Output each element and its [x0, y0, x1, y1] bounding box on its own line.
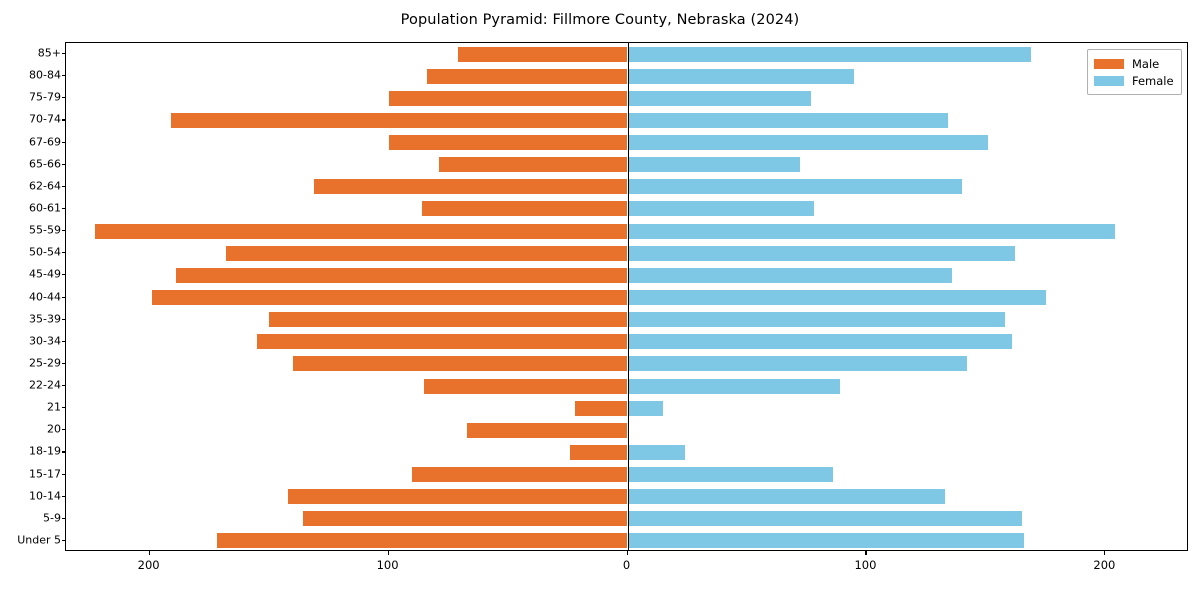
- x-axis-tick-label: 100: [854, 558, 876, 572]
- y-axis-tick-label: 30-34: [29, 335, 61, 346]
- bar-female-70-74: [628, 113, 948, 128]
- figure-canvas: Population Pyramid: Fillmore County, Neb…: [0, 0, 1200, 600]
- bar-male-21: [575, 401, 628, 416]
- y-axis-tick-mark: [62, 474, 66, 475]
- bar-female-67-69: [628, 135, 989, 150]
- bar-male-25-29: [293, 356, 628, 371]
- y-axis-tick-mark: [62, 252, 66, 253]
- y-axis-tick-label: 85+: [38, 48, 61, 59]
- y-axis-tick-mark: [62, 451, 66, 452]
- bar-female-85-: [628, 47, 1032, 62]
- bar-female-30-34: [628, 334, 1013, 349]
- bar-female-55-59: [628, 224, 1115, 239]
- y-axis-tick-label: 60-61: [29, 202, 61, 213]
- y-axis-tick-mark: [62, 164, 66, 165]
- y-axis-tick-mark: [62, 97, 66, 98]
- bar-female-25-29: [628, 356, 967, 371]
- bar-female-5-9: [628, 511, 1022, 526]
- bar-male-60-61: [422, 201, 627, 216]
- bar-male-40-44: [152, 290, 627, 305]
- x-axis-tick-mark: [388, 551, 389, 555]
- y-axis-tick-label: 67-69: [29, 136, 61, 147]
- y-axis-tick-mark: [62, 540, 66, 541]
- legend-swatch-female: [1094, 76, 1124, 86]
- y-axis-tick-mark: [62, 230, 66, 231]
- x-axis-tick-label: 0: [623, 558, 630, 572]
- x-axis-tick-label: 200: [1093, 558, 1115, 572]
- x-axis-tick-label: 200: [138, 558, 160, 572]
- bar-female-40-44: [628, 290, 1046, 305]
- legend-item-female[interactable]: Female: [1094, 72, 1174, 89]
- bar-female-80-84: [628, 69, 855, 84]
- bar-female-62-64: [628, 179, 963, 194]
- y-axis-tick-mark: [62, 142, 66, 143]
- y-axis-tick-label: 5-9: [43, 512, 61, 523]
- y-axis-tick-label: Under 5: [17, 534, 61, 545]
- y-axis-tick-mark: [62, 319, 66, 320]
- y-axis-tick-mark: [62, 75, 66, 76]
- y-axis-tick-mark: [62, 363, 66, 364]
- bar-female-50-54: [628, 246, 1015, 261]
- bar-male-50-54: [226, 246, 627, 261]
- bar-male-55-59: [95, 224, 628, 239]
- bar-male-70-74: [171, 113, 627, 128]
- bar-male-under-5: [217, 533, 628, 548]
- bar-female-15-17: [628, 467, 833, 482]
- y-axis-tick-label: 55-59: [29, 225, 61, 236]
- bar-female-60-61: [628, 201, 814, 216]
- bar-male-18-19: [570, 445, 627, 460]
- bar-female-65-66: [628, 157, 800, 172]
- bar-male-67-69: [389, 135, 628, 150]
- x-axis-tick-mark: [865, 551, 866, 555]
- bar-female-21: [628, 401, 664, 416]
- y-axis-tick-label: 10-14: [29, 490, 61, 501]
- y-axis-tick-mark: [62, 518, 66, 519]
- x-axis-tick-mark: [1104, 551, 1105, 555]
- y-axis-tick-mark: [62, 341, 66, 342]
- y-axis-tick-label: 45-49: [29, 269, 61, 280]
- y-axis-tick-mark: [62, 385, 66, 386]
- y-axis-tick-label: 22-24: [29, 380, 61, 391]
- y-axis-tick-label: 25-29: [29, 357, 61, 368]
- chart-legend[interactable]: MaleFemale: [1087, 49, 1182, 95]
- bar-male-65-66: [439, 157, 628, 172]
- y-axis-tick-label: 18-19: [29, 446, 61, 457]
- legend-label: Male: [1132, 57, 1159, 71]
- bar-female-45-49: [628, 268, 953, 283]
- bar-female-18-19: [628, 445, 685, 460]
- bar-male-75-79: [389, 91, 628, 106]
- y-axis-tick-mark: [62, 407, 66, 408]
- bar-male-62-64: [314, 179, 627, 194]
- x-axis-tick-label: 100: [377, 558, 399, 572]
- bar-male-15-17: [412, 467, 627, 482]
- bar-male-35-39: [269, 312, 627, 327]
- bar-female-under-5: [628, 533, 1025, 548]
- bar-female-10-14: [628, 489, 946, 504]
- bar-male-20: [467, 423, 627, 438]
- bar-female-75-79: [628, 91, 812, 106]
- y-axis-tick-label: 21: [47, 402, 61, 413]
- y-axis-tick-mark: [62, 429, 66, 430]
- y-axis-tick-label: 15-17: [29, 468, 61, 479]
- y-axis-tick-mark: [62, 186, 66, 187]
- y-axis-tick-label: 62-64: [29, 180, 61, 191]
- y-axis-tick-label: 35-39: [29, 313, 61, 324]
- y-axis-tick-mark: [62, 274, 66, 275]
- x-axis-tick-mark: [627, 551, 628, 555]
- plot-area: [65, 42, 1188, 551]
- bar-female-22-24: [628, 379, 841, 394]
- y-axis-tick-label: 65-66: [29, 158, 61, 169]
- y-axis-tick-mark: [62, 297, 66, 298]
- x-axis-tick-mark: [149, 551, 150, 555]
- bar-male-45-49: [176, 268, 628, 283]
- y-axis-tick-mark: [62, 496, 66, 497]
- bar-male-30-34: [257, 334, 627, 349]
- bar-male-85-: [458, 47, 628, 62]
- page-title: Population Pyramid: Fillmore County, Neb…: [0, 12, 1200, 28]
- bar-male-5-9: [303, 511, 628, 526]
- y-axis-tick-mark: [62, 208, 66, 209]
- y-axis-tick-mark: [62, 119, 66, 120]
- legend-item-male[interactable]: Male: [1094, 55, 1174, 72]
- bar-female-35-39: [628, 312, 1006, 327]
- legend-swatch-male: [1094, 59, 1124, 69]
- y-axis-tick-label: 40-44: [29, 291, 61, 302]
- bar-male-80-84: [427, 69, 628, 84]
- bar-male-22-24: [424, 379, 627, 394]
- zero-axis-line: [628, 43, 629, 550]
- y-axis-tick-label: 75-79: [29, 92, 61, 103]
- legend-label: Female: [1132, 74, 1174, 88]
- y-axis-tick-label: 50-54: [29, 247, 61, 258]
- y-axis-tick-label: 20: [47, 424, 61, 435]
- bar-male-10-14: [288, 489, 627, 504]
- y-axis-tick-mark: [62, 53, 66, 54]
- y-axis-tick-label: 80-84: [29, 70, 61, 81]
- y-axis-tick-label: 70-74: [29, 114, 61, 125]
